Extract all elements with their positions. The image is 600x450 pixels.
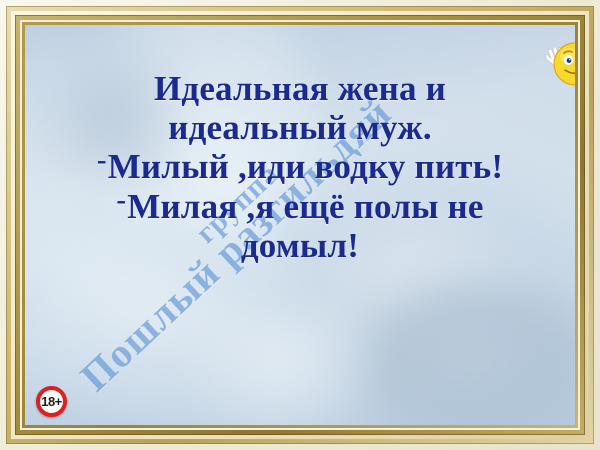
caption-text: Идеальная жена и идеальный муж. Милый ,и…	[25, 69, 575, 265]
caption-line-4: Милая ,я ещё полы не	[31, 187, 569, 226]
caption-line-5: домыл!	[31, 226, 569, 265]
smiley-tongue-out-hands-up-icon	[539, 39, 575, 91]
caption-line-2: идеальный муж.	[31, 108, 569, 147]
photo-area: группа Пошлый разгильдяй Идеальная жена …	[25, 25, 575, 425]
meme-image: группа Пошлый разгильдяй Идеальная жена …	[0, 0, 600, 450]
age-restriction-18-plus-icon: 18+	[36, 386, 67, 417]
age-badge-label: 18+	[41, 395, 62, 408]
caption-line-1: Идеальная жена и	[31, 69, 569, 108]
caption-line-3: Милый ,иди водку пить!	[31, 147, 569, 186]
